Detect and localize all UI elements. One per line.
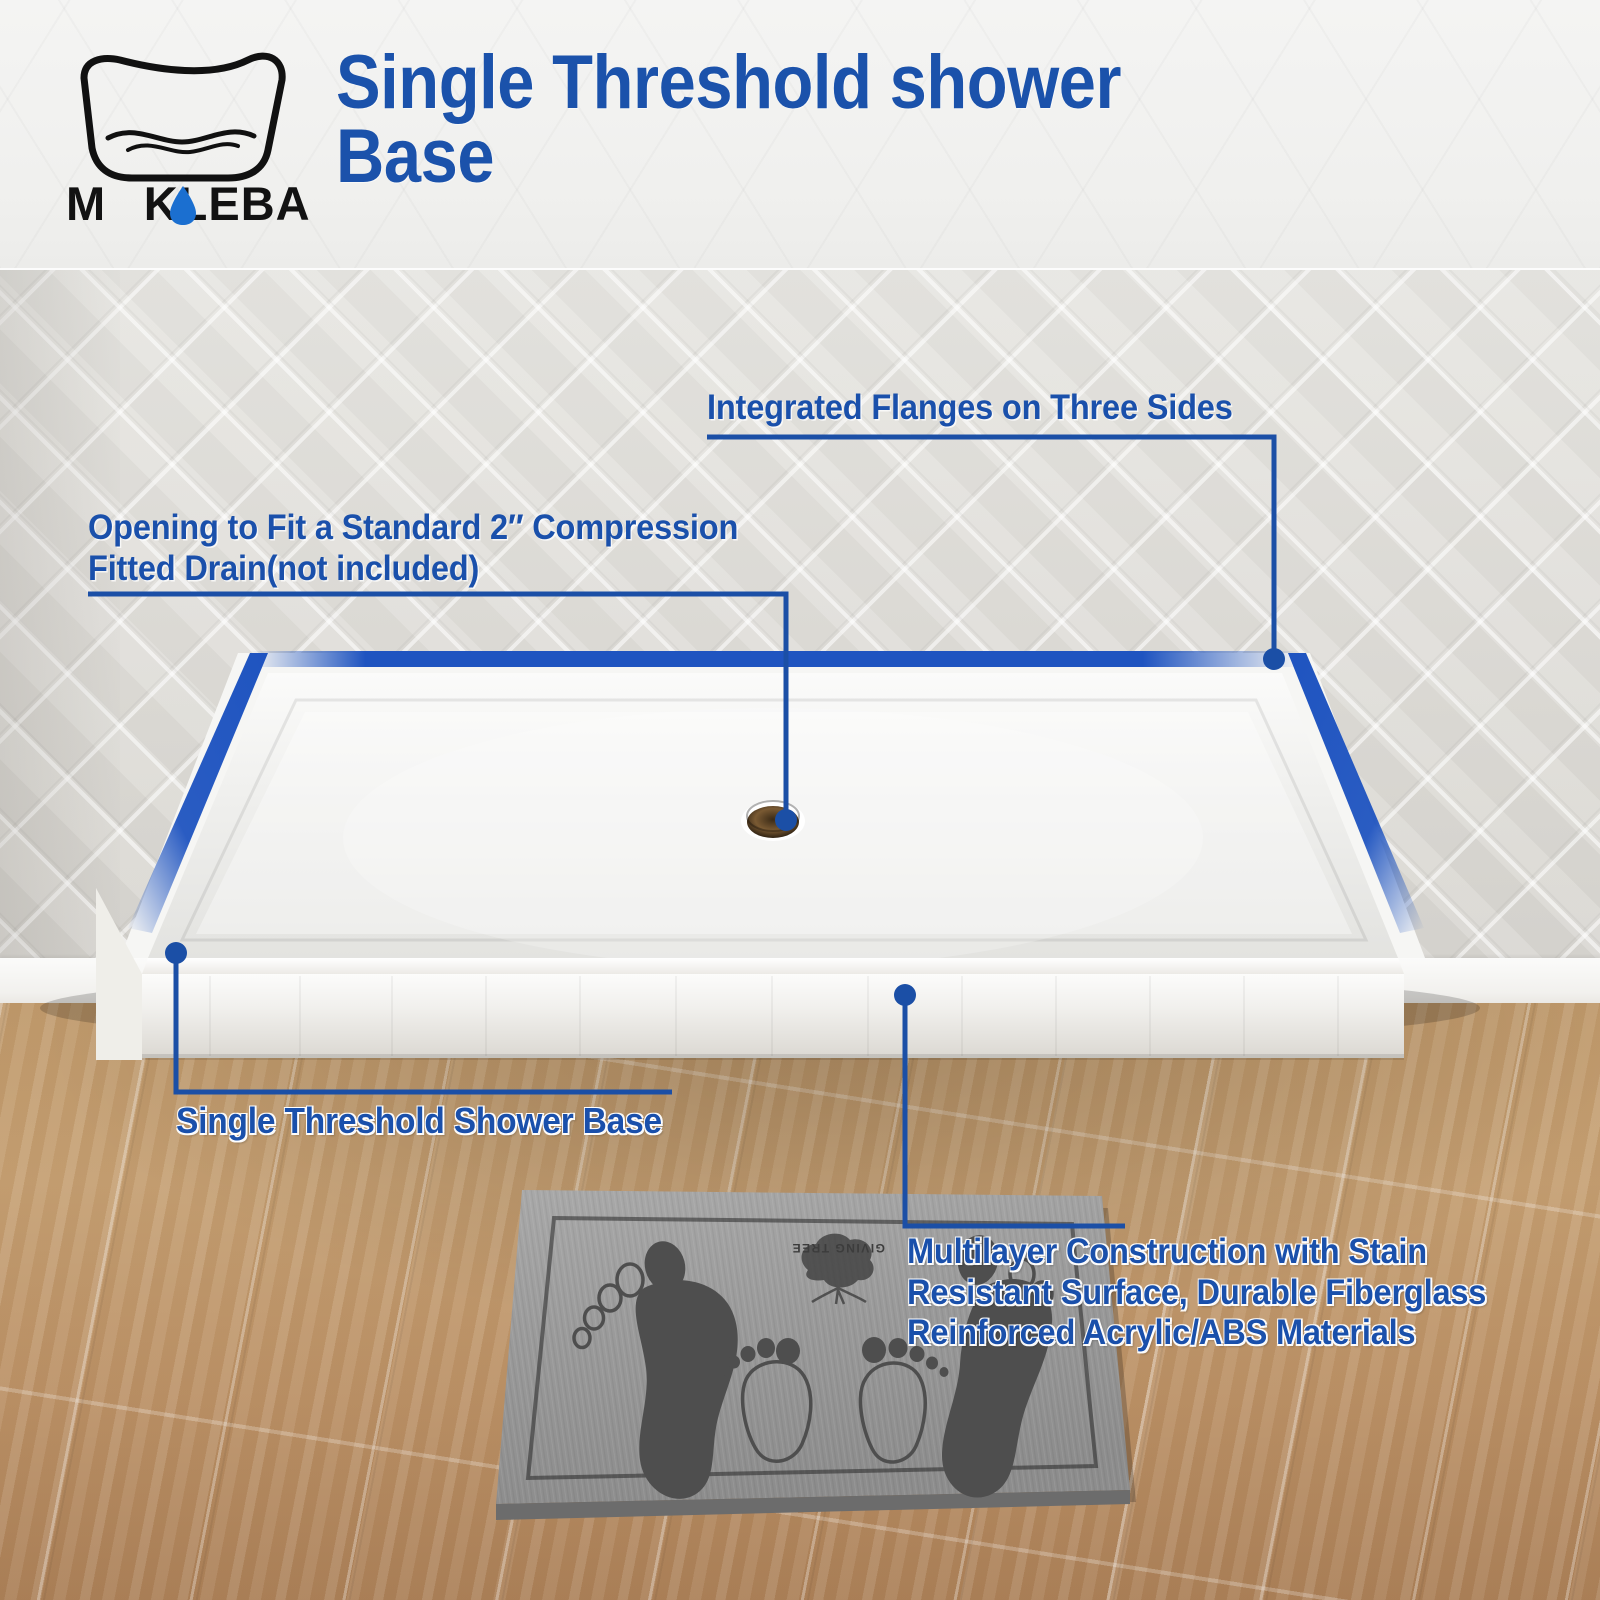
header-divider (0, 268, 1600, 270)
header-bar: MOKLEBA Single Threshold shower Base (0, 0, 1600, 270)
callout-flanges-line-1: Integrated Flanges on Three Sides (707, 388, 1233, 429)
page-title: Single Threshold shower Base (336, 46, 1330, 195)
product-scene: GIVING TREE (0, 268, 1600, 1600)
bathtub-basin-icon (62, 38, 302, 188)
callout-drain-line-2: Fitted Drain(not included) (88, 549, 738, 590)
callout-multilayer-line-2: Resistant Surface, Durable Fiberglass (907, 1273, 1486, 1314)
infographic-canvas: GIVING TREE Integrated Flanges on Three … (0, 0, 1600, 1600)
brand-logo: MOKLEBA (62, 38, 302, 233)
mat-logo-text: GIVING TREE (791, 1241, 885, 1255)
threshold-rim-top (142, 958, 1404, 974)
page-title-line-2: Base (336, 120, 1330, 194)
drain-opening (747, 806, 799, 838)
flange-highlight-back (250, 651, 1300, 667)
water-drop-icon (168, 184, 198, 226)
callout-flanges: Integrated Flanges on Three Sides (707, 388, 1272, 429)
callout-threshold: Single Threshold Shower Base (176, 1100, 699, 1142)
brand-text-before: M (66, 177, 106, 230)
callout-multilayer: Multilayer Construction with Stain Resis… (907, 1232, 1530, 1354)
page-title-line-1: Single Threshold shower (336, 46, 1330, 120)
callout-drain: Opening to Fit a Standard 2″ Compression… (88, 508, 787, 589)
callout-drain-line-1: Opening to Fit a Standard 2″ Compression (88, 508, 738, 549)
callout-threshold-line-1: Single Threshold Shower Base (176, 1100, 662, 1142)
callout-multilayer-line-1: Multilayer Construction with Stain (907, 1232, 1486, 1273)
callout-multilayer-line-3: Reinforced Acrylic/ABS Materials (907, 1313, 1486, 1354)
